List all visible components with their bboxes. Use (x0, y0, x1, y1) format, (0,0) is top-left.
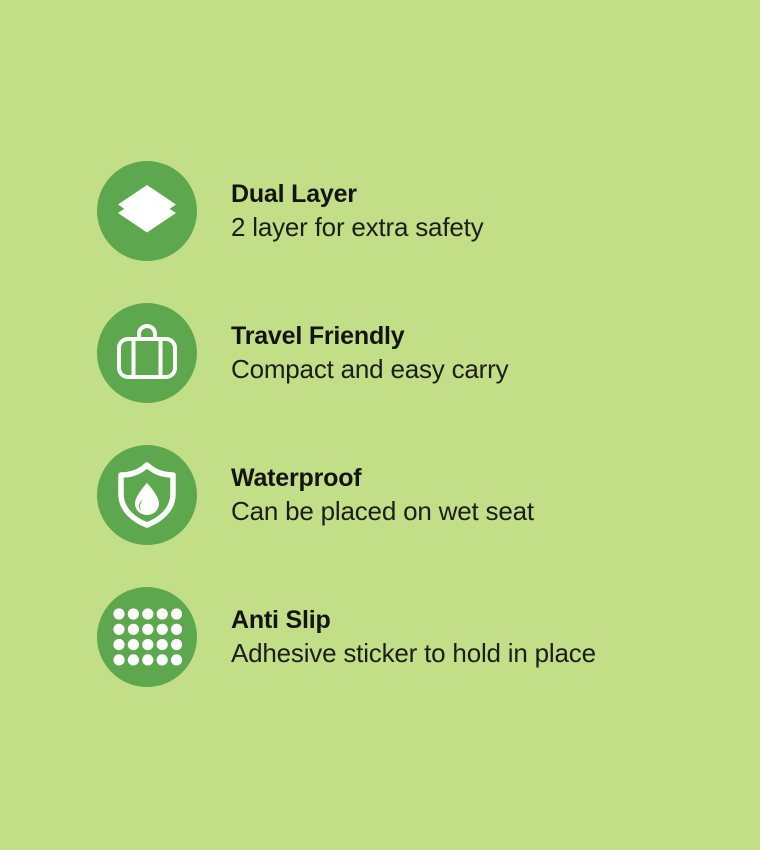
feature-item-dual-layer: Dual Layer 2 layer for extra safety (97, 161, 596, 261)
feature-title: Dual Layer (231, 179, 483, 210)
feature-icon-badge (97, 303, 197, 403)
feature-title: Anti Slip (231, 605, 596, 636)
feature-icon-badge (97, 587, 197, 687)
feature-list: Dual Layer 2 layer for extra safety (97, 161, 596, 687)
feature-subtitle: Compact and easy carry (231, 353, 508, 385)
feature-text-block: Anti Slip Adhesive sticker to hold in pl… (231, 605, 596, 669)
shield-droplet-icon (117, 462, 177, 528)
feature-subtitle: 2 layer for extra safety (231, 211, 483, 243)
layers-icon (116, 183, 178, 239)
feature-subtitle: Can be placed on wet seat (231, 495, 534, 527)
feature-text-block: Dual Layer 2 layer for extra safety (231, 179, 483, 243)
feature-icon-badge (97, 161, 197, 261)
feature-item-waterproof: Waterproof Can be placed on wet seat (97, 445, 596, 545)
suitcase-icon (116, 324, 178, 382)
feature-subtitle: Adhesive sticker to hold in place (231, 637, 596, 669)
feature-text-block: Travel Friendly Compact and easy carry (231, 321, 508, 385)
feature-item-anti-slip: Anti Slip Adhesive sticker to hold in pl… (97, 587, 596, 687)
dot-grid-icon (112, 607, 182, 667)
feature-highlights-panel: Dual Layer 2 layer for extra safety (0, 0, 760, 850)
feature-title: Travel Friendly (231, 321, 508, 352)
feature-text-block: Waterproof Can be placed on wet seat (231, 463, 534, 527)
feature-title: Waterproof (231, 463, 534, 494)
feature-item-travel-friendly: Travel Friendly Compact and easy carry (97, 303, 596, 403)
feature-icon-badge (97, 445, 197, 545)
